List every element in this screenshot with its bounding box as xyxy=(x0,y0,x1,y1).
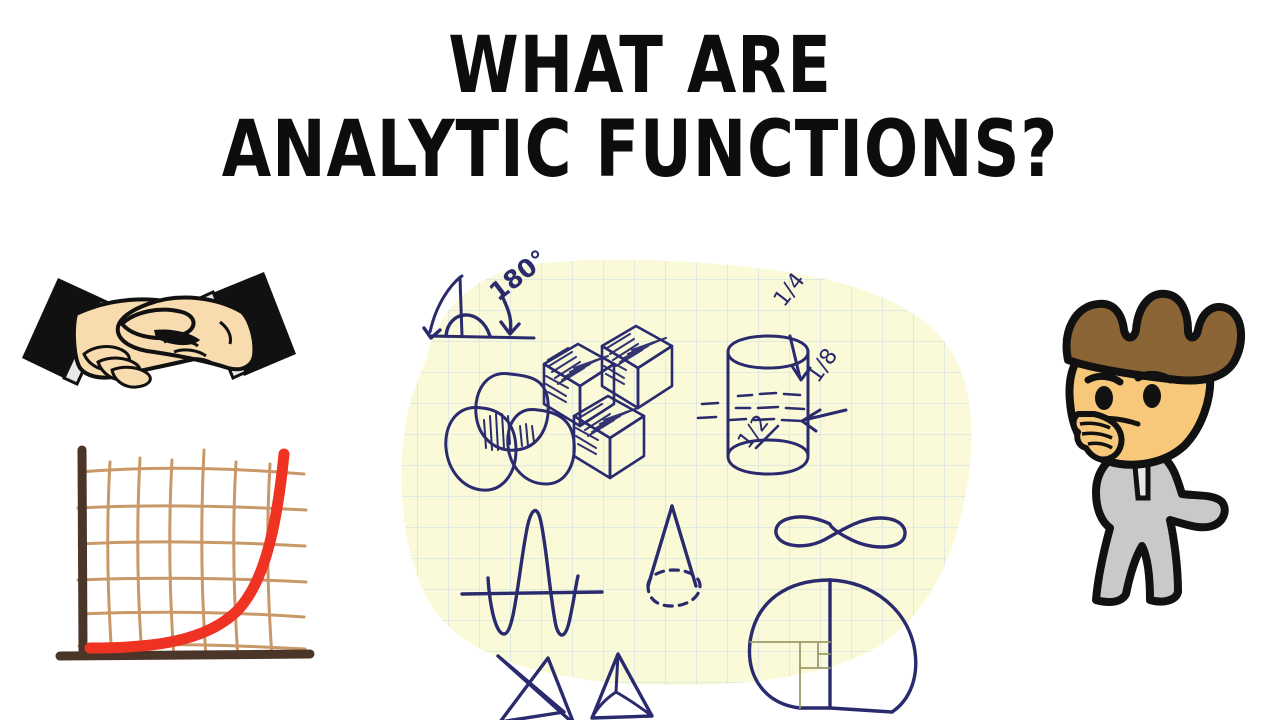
title-line-1: WHAT ARE xyxy=(115,28,1165,104)
character-hair xyxy=(1067,294,1241,381)
character-hand-on-chin xyxy=(1074,414,1122,460)
math-doodles-paper: 180° xyxy=(386,248,996,704)
thinking-character-illustration xyxy=(1038,282,1278,612)
slide-canvas: WHAT ARE ANALYTIC FUNCTIONS? xyxy=(0,0,1280,720)
exponential-curve xyxy=(90,454,284,648)
title-line-2: ANALYTIC FUNCTIONS? xyxy=(115,112,1165,188)
handshake-illustration xyxy=(14,258,304,398)
exponential-graph-illustration xyxy=(42,432,332,680)
paper-surface xyxy=(386,248,996,704)
page-title: WHAT ARE ANALYTIC FUNCTIONS? xyxy=(0,28,1280,189)
character-body xyxy=(1096,454,1225,602)
